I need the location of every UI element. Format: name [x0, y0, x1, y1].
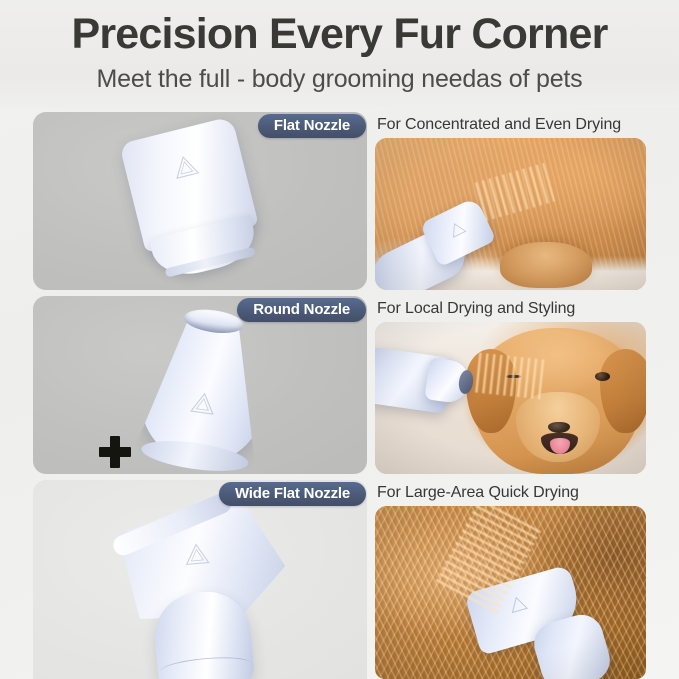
caption-flat-nozzle: For Concentrated and Even Drying [377, 115, 621, 135]
badge-round-nozzle[interactable]: Round Nozzle [237, 298, 366, 322]
flat-nozzle-product-image [113, 115, 273, 288]
page-title: Precision Every Fur Corner [0, 9, 679, 59]
brand-triangle-icon [183, 541, 211, 566]
photo-panel-round-nozzle [375, 322, 646, 474]
photo-panel-wide-flat-nozzle [375, 506, 646, 679]
badge-wide-flat-nozzle[interactable]: Wide Flat Nozzle [219, 482, 366, 506]
plus-symbol-round [99, 436, 131, 468]
dog-snout [516, 392, 600, 462]
scene-closeup-fur [375, 506, 646, 679]
photo-panel-flat-nozzle [375, 138, 646, 290]
round-nozzle-product-image [132, 296, 281, 472]
brand-triangle-icon [189, 390, 218, 416]
scene-dog-body [375, 138, 646, 290]
product-panel-wide-flat-nozzle [33, 480, 367, 679]
page-subtitle: Meet the full - body grooming needas of … [0, 64, 679, 94]
dog-eye-open [595, 372, 610, 381]
dog-paw [500, 242, 592, 288]
dog-ear-right [600, 349, 646, 434]
product-panel-round-nozzle [33, 296, 367, 474]
dog-head [473, 328, 641, 474]
caption-round-nozzle: For Local Drying and Styling [377, 299, 575, 319]
section-flat-nozzle: Flat Nozzle For Concentrated and Even Dr… [0, 112, 679, 292]
dog-nose [548, 422, 570, 433]
section-round-nozzle: Round Nozzle For Local Drying and Stylin… [0, 296, 679, 476]
wide-flat-nozzle-product-image [102, 492, 307, 679]
product-infographic: Precision Every Fur Corner Meet the full… [0, 0, 679, 679]
header-banner: Precision Every Fur Corner Meet the full… [0, 0, 679, 108]
product-panel-flat-nozzle [33, 112, 367, 290]
scene-dog-face [375, 322, 646, 474]
badge-flat-nozzle[interactable]: Flat Nozzle [258, 114, 366, 138]
caption-wide-flat-nozzle: For Large-Area Quick Drying [377, 483, 579, 503]
section-wide-flat-nozzle: Wide Flat Nozzle For Large-Area Quick Dr… [0, 480, 679, 679]
airflow-lines [475, 353, 545, 400]
